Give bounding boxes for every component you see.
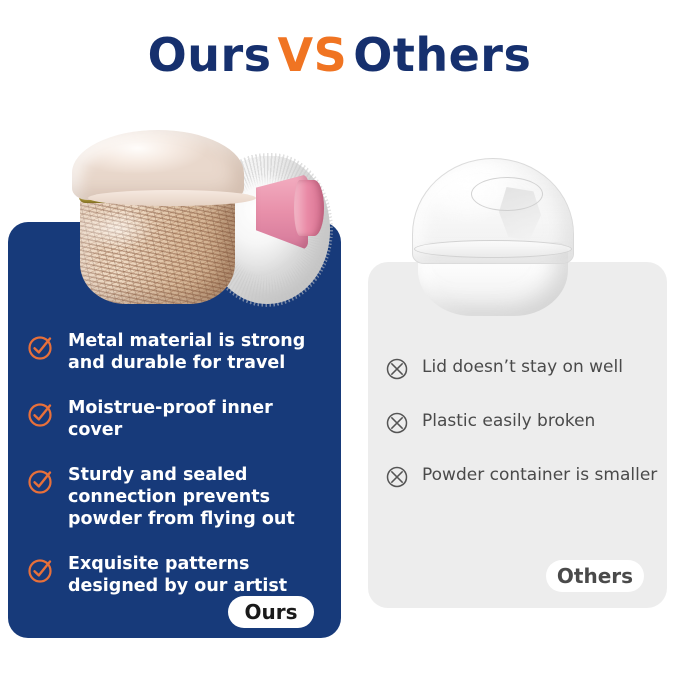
list-item-label: Exquisite patterns designed by our artis… [68, 553, 332, 598]
title-word-ours: Ours [148, 28, 272, 82]
x-circle-icon [384, 410, 410, 436]
others-feature-list: Lid doesn’t stay on well Plastic easily … [384, 356, 660, 518]
pot-clear-dome-lid [412, 158, 574, 264]
x-circle-icon [384, 356, 410, 382]
list-item: Sturdy and sealed connection prevents po… [26, 464, 332, 531]
list-item: Moistrue-proof inner cover [26, 397, 332, 442]
check-circle-icon [26, 466, 56, 496]
check-circle-icon [26, 332, 56, 362]
list-item-label: Metal material is strong and durable for… [68, 330, 332, 375]
pot-dome-highlight [471, 177, 543, 211]
others-badge: Others [546, 560, 644, 592]
pot-inner-shape [499, 187, 541, 241]
pot-dome-ring [414, 240, 572, 258]
list-item-label: Plastic easily broken [422, 410, 595, 432]
jar-ivory-lid [72, 130, 244, 200]
check-circle-icon [26, 555, 56, 585]
list-item-label: Powder container is smaller [422, 464, 657, 486]
list-item: Exquisite patterns designed by our artis… [26, 553, 332, 598]
list-item-label: Sturdy and sealed connection prevents po… [68, 464, 332, 531]
list-item: Plastic easily broken [384, 410, 660, 436]
list-item-label: Lid doesn’t stay on well [422, 356, 623, 378]
title-word-others: Others [353, 28, 531, 82]
list-item: Lid doesn’t stay on well [384, 356, 660, 382]
page-title: OursVSOthers [0, 28, 679, 82]
check-circle-icon [26, 399, 56, 429]
list-item: Powder container is smaller [384, 464, 660, 490]
list-item-label: Moistrue-proof inner cover [68, 397, 332, 442]
x-circle-icon [384, 464, 410, 490]
jar-lid-rim [88, 190, 256, 206]
title-word-vs: VS [278, 28, 348, 82]
jar-gold-band [79, 184, 236, 203]
ours-badge: Ours [228, 596, 314, 628]
list-item: Metal material is strong and durable for… [26, 330, 332, 375]
ours-feature-list: Metal material is strong and durable for… [26, 330, 332, 620]
